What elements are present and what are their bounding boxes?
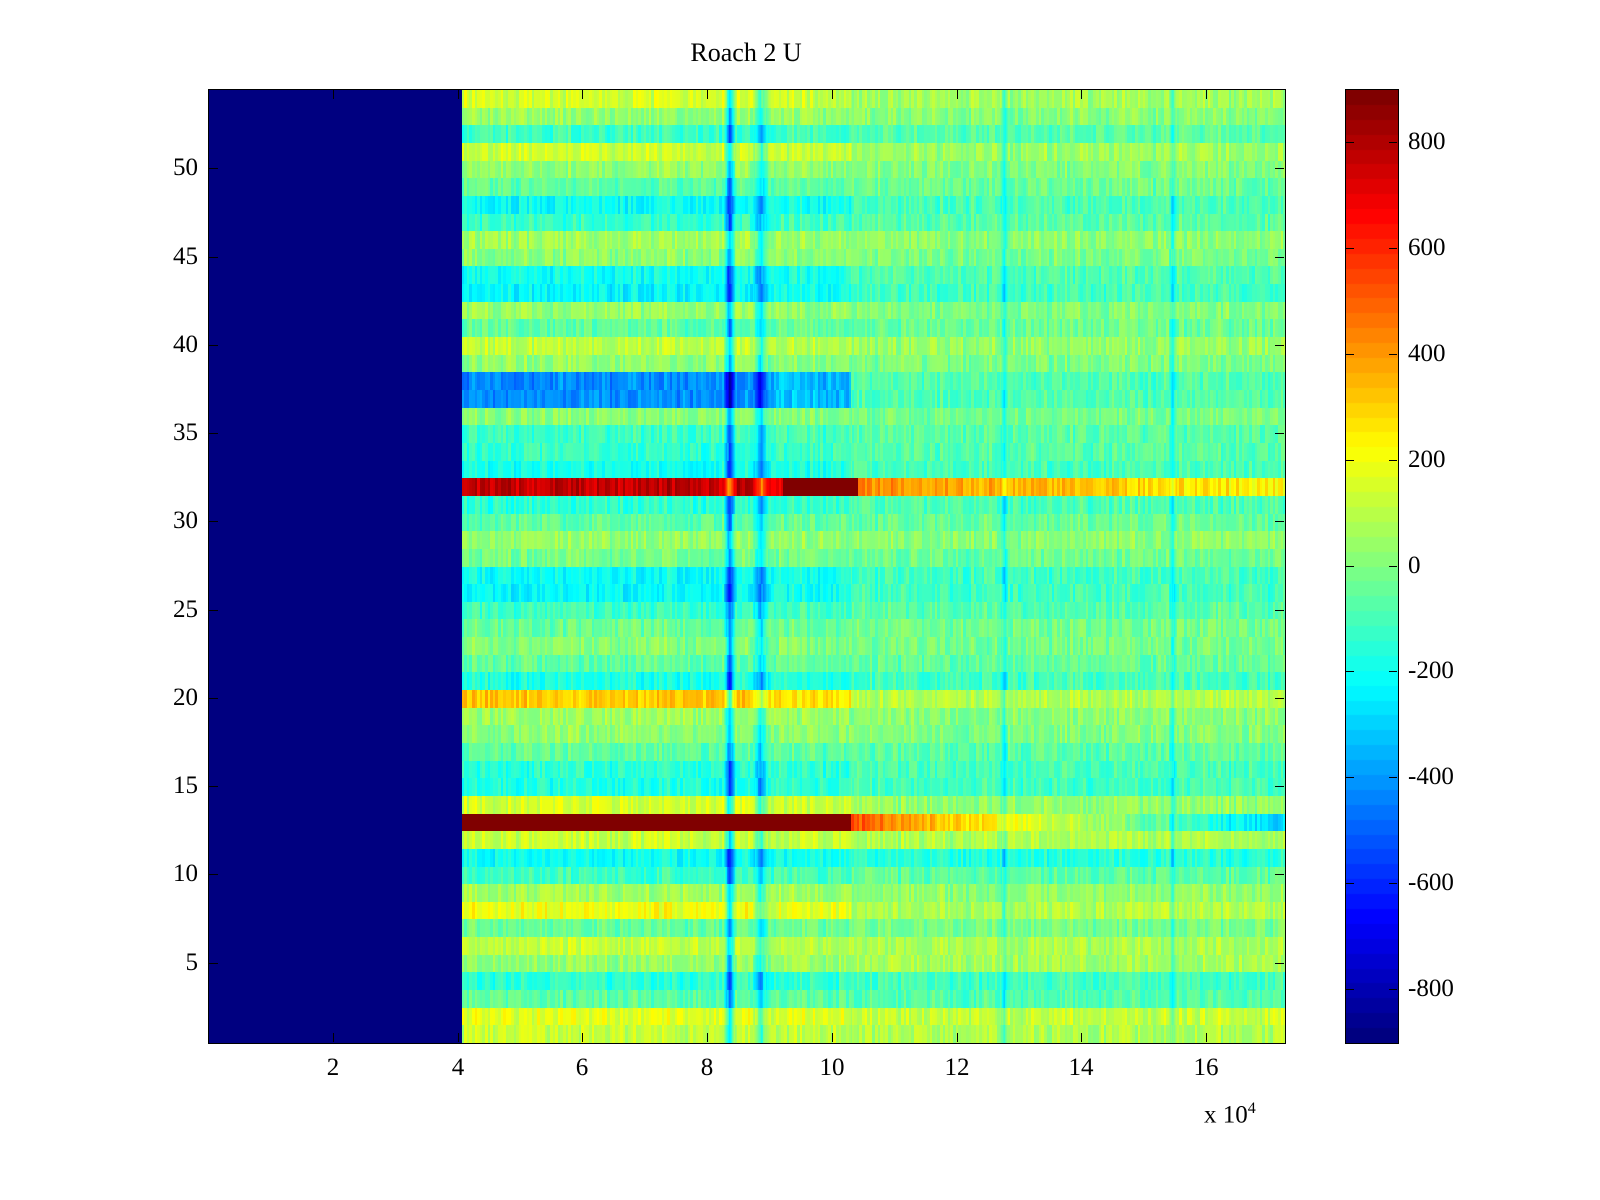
y-axis-tick-label: 20 [173, 685, 198, 710]
y-axis-tick-mark [209, 257, 218, 258]
y-axis-tick-mark-right [1275, 610, 1284, 611]
y-axis-tick-label: 15 [173, 773, 198, 798]
x-axis-tick-mark-top [458, 90, 459, 99]
colorbar-tick-mark-right [1389, 883, 1397, 884]
x-axis-tick-mark-top [1081, 90, 1082, 99]
y-axis-tick-mark-right [1275, 874, 1284, 875]
x-axis-tick-mark [582, 1033, 583, 1042]
matlab-figure-window: Roach 2 U 5101520253035404550 2468101214… [0, 0, 1600, 1200]
colorbar-tick-mark-right [1389, 989, 1397, 990]
y-axis-tick-mark-right [1275, 345, 1284, 346]
y-axis-tick-mark [209, 963, 218, 964]
y-axis-tick-mark-right [1275, 168, 1284, 169]
colorbar-tick-mark-right [1389, 777, 1397, 778]
colorbar-tick-mark [1346, 989, 1354, 990]
colorbar-tick-mark [1346, 142, 1354, 143]
y-axis-tick-label: 10 [173, 861, 198, 886]
x-axis-tick-mark [832, 1033, 833, 1042]
colorbar-tick-label: -200 [1408, 658, 1454, 683]
x-axis-tick-mark-top [1206, 90, 1207, 99]
y-axis-tick-mark-right [1275, 257, 1284, 258]
y-axis-tick-mark-right [1275, 433, 1284, 434]
colorbar-tick-label: -400 [1408, 764, 1454, 789]
colorbar-tick-label: 800 [1408, 129, 1446, 154]
x-axis-tick-mark-top [707, 90, 708, 99]
y-axis-tick-label: 40 [173, 332, 198, 357]
x-axis-tick-mark-top [582, 90, 583, 99]
y-axis-tick-label: 25 [173, 597, 198, 622]
y-axis-tick-label: 35 [173, 420, 198, 445]
y-axis-tick-mark [209, 698, 218, 699]
x-axis-tick-label: 16 [1166, 1055, 1246, 1080]
colorbar-tick-mark-right [1389, 354, 1397, 355]
heatmap-axes[interactable] [208, 89, 1286, 1044]
x-axis-tick-mark [333, 1033, 334, 1042]
colorbar-tick-label: 0 [1408, 553, 1421, 578]
y-axis-tick-mark-right [1275, 698, 1284, 699]
colorbar-tick-mark-right [1389, 142, 1397, 143]
colorbar-tick-mark-right [1389, 671, 1397, 672]
y-axis-tick-mark [209, 521, 218, 522]
y-axis-tick-mark [209, 168, 218, 169]
x-axis-tick-mark-top [957, 90, 958, 99]
x-axis-tick-mark [1081, 1033, 1082, 1042]
page-title: Roach 2 U [208, 40, 1284, 66]
colorbar-tick-mark [1346, 460, 1354, 461]
y-axis-tick-label: 50 [173, 155, 198, 180]
colorbar-tick-label: -800 [1408, 976, 1454, 1001]
y-axis-tick-mark [209, 874, 218, 875]
x-axis-tick-label: 12 [917, 1055, 997, 1080]
colorbar-tick-mark [1346, 248, 1354, 249]
x-axis-tick-mark [1206, 1033, 1207, 1042]
x-axis-tick-mark-top [333, 90, 334, 99]
x-axis-tick-label: 8 [667, 1055, 747, 1080]
y-axis-tick-label: 45 [173, 244, 198, 269]
colorbar-tick-mark-right [1389, 566, 1397, 567]
x-axis-tick-label: 2 [293, 1055, 373, 1080]
heatmap-image[interactable] [209, 90, 1285, 1043]
colorbar-tick-mark-right [1389, 248, 1397, 249]
x-exponent-base: x 10 [1204, 1101, 1248, 1128]
y-axis-tick-label: 30 [173, 508, 198, 533]
x-axis-tick-label: 4 [418, 1055, 498, 1080]
x-axis-tick-label: 14 [1041, 1055, 1121, 1080]
x-axis-tick-mark [707, 1033, 708, 1042]
colorbar-tick-mark [1346, 777, 1354, 778]
y-axis-tick-mark-right [1275, 786, 1284, 787]
colorbar-tick-mark [1346, 354, 1354, 355]
colorbar-tick-mark-right [1389, 460, 1397, 461]
y-axis-tick-mark [209, 610, 218, 611]
x-axis-tick-label: 6 [542, 1055, 622, 1080]
colorbar-tick-mark [1346, 883, 1354, 884]
x-exponent-power: 4 [1248, 1100, 1256, 1117]
y-axis-tick-mark [209, 345, 218, 346]
colorbar-tick-label: -600 [1408, 870, 1454, 895]
x-axis-tick-mark-top [832, 90, 833, 99]
colorbar-tick-mark [1346, 671, 1354, 672]
x-axis-tick-label: 10 [792, 1055, 872, 1080]
y-axis-tick-mark [209, 786, 218, 787]
x-axis-tick-mark [957, 1033, 958, 1042]
colorbar-tick-mark [1346, 566, 1354, 567]
y-axis-tick-mark-right [1275, 963, 1284, 964]
x-axis-exponent-label: x 104 [1204, 1100, 1256, 1129]
colorbar-tick-label: 400 [1408, 341, 1446, 366]
y-axis-tick-mark [209, 433, 218, 434]
y-axis-tick-label: 5 [186, 950, 199, 975]
y-axis-tick-mark-right [1275, 521, 1284, 522]
x-axis-tick-mark [458, 1033, 459, 1042]
colorbar-tick-label: 600 [1408, 235, 1446, 260]
colorbar-tick-label: 200 [1408, 447, 1446, 472]
